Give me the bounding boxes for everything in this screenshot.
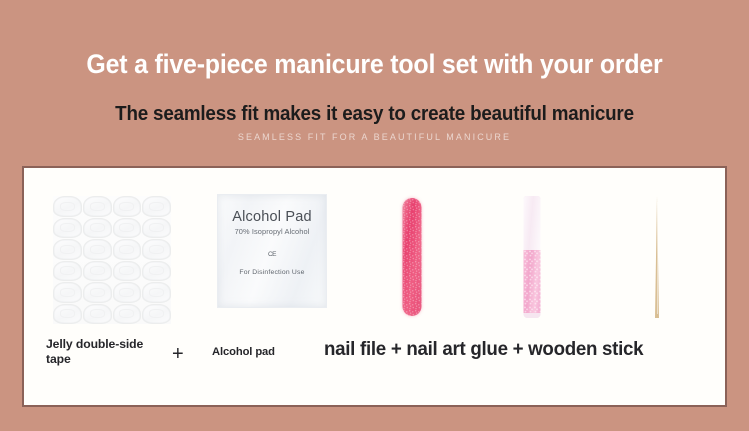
tape-tab xyxy=(83,261,112,282)
product-image-row: Alcohol Pad 70% Isopropyl Alcohol CE For… xyxy=(24,186,725,326)
tape-tab xyxy=(142,239,171,260)
banner-headline: Get a five-piece manicure tool set with … xyxy=(22,50,726,79)
ce-mark-icon: CE xyxy=(268,251,276,258)
product-image-alcohol-pad: Alcohol Pad 70% Isopropyl Alcohol CE For… xyxy=(192,186,352,326)
tape-tab xyxy=(83,218,112,239)
alcohol-pad-sachet-icon: Alcohol Pad 70% Isopropyl Alcohol CE For… xyxy=(217,194,327,308)
alcohol-pad-package-title: Alcohol Pad xyxy=(232,209,312,225)
wooden-stick-icon xyxy=(654,196,660,318)
banner-micro-caption: SEAMLESS FIT FOR A BEAUTIFUL MANICURE xyxy=(0,132,749,142)
tape-tab xyxy=(53,218,82,239)
tape-tab xyxy=(142,261,171,282)
tape-tab xyxy=(53,196,82,217)
alcohol-pad-package-subtitle: 70% Isopropyl Alcohol xyxy=(235,227,310,236)
tape-tab xyxy=(83,282,112,303)
banner-subheadline: The seamless fit makes it easy to create… xyxy=(22,103,726,125)
nail-glue-bottle-icon xyxy=(524,196,541,318)
promo-banner: Get a five-piece manicure tool set with … xyxy=(0,0,749,431)
glue-bottle-body xyxy=(524,250,541,313)
nail-file-icon xyxy=(403,198,422,316)
product-label-file-glue-stick: nail file + nail art glue + wooden stick xyxy=(324,337,698,361)
wooden-stick-highlight xyxy=(657,202,658,314)
tape-tab xyxy=(113,282,142,303)
tape-tab xyxy=(53,282,82,303)
tape-tab xyxy=(142,282,171,303)
tape-tab xyxy=(83,304,112,325)
tape-tab xyxy=(53,239,82,260)
tape-tab xyxy=(113,261,142,282)
product-image-nail-file xyxy=(352,186,472,326)
tape-tab xyxy=(53,261,82,282)
tape-tab xyxy=(142,196,171,217)
glue-bottle-base xyxy=(524,313,541,318)
tape-tab xyxy=(83,239,112,260)
tape-tab xyxy=(83,196,112,217)
tape-tab xyxy=(113,218,142,239)
product-label-jelly-tape: Jelly double-side tape xyxy=(46,337,161,368)
product-label-row: Jelly double-side tape + Alcohol pad nai… xyxy=(24,335,725,381)
product-image-jelly-tape xyxy=(32,186,192,326)
product-label-alcohol-pad: Alcohol pad xyxy=(212,345,332,359)
jelly-tape-sheet-icon xyxy=(53,196,171,324)
product-set-card: Alcohol Pad 70% Isopropyl Alcohol CE For… xyxy=(22,166,727,407)
tape-tab xyxy=(113,304,142,325)
tape-tab xyxy=(142,304,171,325)
tape-tab xyxy=(142,218,171,239)
product-image-nail-art-glue xyxy=(472,186,592,326)
tape-tab xyxy=(53,304,82,325)
alcohol-pad-package-footer: For Disinfection Use xyxy=(239,269,304,276)
tape-tab xyxy=(113,239,142,260)
tape-tab xyxy=(113,196,142,217)
glue-bottle-cap xyxy=(524,196,541,250)
product-image-wooden-stick xyxy=(592,186,722,326)
plus-separator-icon: + xyxy=(172,343,184,366)
